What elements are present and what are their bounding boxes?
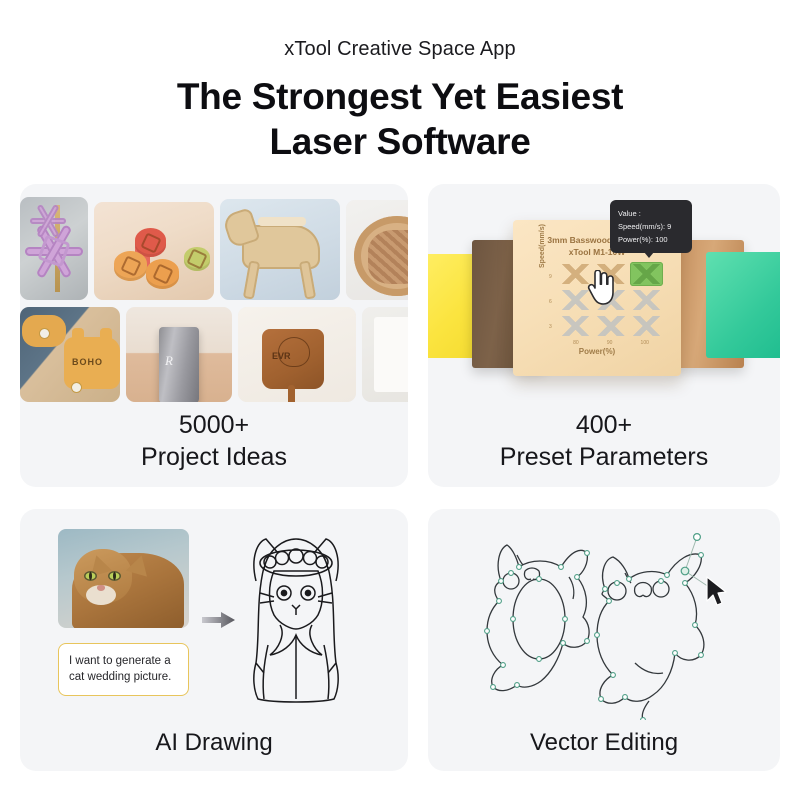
photo-tile-metal-case[interactable]: R bbox=[126, 307, 232, 402]
material-test-illustration: 3mm Basswoodplywood xTool M1-10W Speed(m… bbox=[428, 184, 780, 396]
test-cell[interactable] bbox=[630, 288, 663, 312]
y-tick-2: 3 bbox=[549, 324, 552, 330]
source-cat-photo[interactable] bbox=[58, 529, 189, 628]
photo-tile-snowflake[interactable] bbox=[20, 197, 88, 300]
test-cell[interactable] bbox=[594, 314, 627, 338]
pouch-engraved-text: EVR bbox=[272, 351, 291, 361]
card-ai-drawing[interactable]: I want to generate a cat wedding picture… bbox=[20, 509, 408, 771]
power-axis-label: Power(%) bbox=[513, 347, 681, 356]
card-caption-ai-drawing: AI Drawing bbox=[20, 729, 408, 757]
transform-arrow-icon bbox=[202, 611, 236, 634]
boho-engraved-text: BOHO bbox=[72, 357, 103, 367]
headline-line-1: The Strongest Yet Easiest bbox=[0, 74, 800, 119]
photo-tile-white-board[interactable] bbox=[362, 307, 408, 402]
card-preset-parameters[interactable]: 3mm Basswoodplywood xTool M1-10W Speed(m… bbox=[428, 184, 780, 487]
generated-cat-bride-lineart[interactable] bbox=[234, 523, 358, 710]
x-tick-2: 100 bbox=[641, 340, 649, 346]
x-tick-0: 80 bbox=[573, 340, 579, 346]
photo-tile-wood-bowl[interactable] bbox=[346, 200, 408, 300]
project-ideas-count: 5000+ bbox=[20, 410, 408, 442]
preset-parameters-count: 400+ bbox=[428, 410, 780, 442]
app-name: xTool Creative Space App bbox=[0, 38, 800, 61]
vector-editing-illustration bbox=[428, 515, 780, 720]
material-green-acrylic bbox=[706, 252, 780, 358]
y-tick-0: 9 bbox=[549, 274, 552, 280]
hand-cursor-icon bbox=[586, 270, 616, 311]
headline-line-2: Laser Software bbox=[0, 119, 800, 164]
tooltip-speed: Speed(mm/s): 9 bbox=[618, 220, 684, 233]
test-cell[interactable] bbox=[630, 314, 663, 338]
card-caption-project-ideas: 5000+ Project Ideas bbox=[20, 410, 408, 473]
promo-page: xTool Creative Space App The Strongest Y… bbox=[0, 0, 800, 800]
vector-cats-artwork[interactable] bbox=[439, 515, 769, 720]
ai-prompt-box[interactable]: I want to generate a cat wedding picture… bbox=[58, 643, 189, 696]
page-title: The Strongest Yet Easiest Laser Software bbox=[0, 74, 800, 164]
page-header: xTool Creative Space App The Strongest Y… bbox=[0, 0, 800, 164]
project-photo-mosaic: BOHO R EVR bbox=[20, 197, 408, 402]
y-tick-1: 6 bbox=[549, 299, 552, 305]
test-cell[interactable] bbox=[559, 314, 592, 338]
preset-parameters-label: Preset Parameters bbox=[428, 442, 780, 474]
card-project-ideas[interactable]: BOHO R EVR 500 bbox=[20, 184, 408, 487]
photo-tile-boho-keychain[interactable]: BOHO bbox=[20, 307, 120, 402]
test-cell-selected[interactable] bbox=[630, 262, 663, 286]
project-ideas-label: Project Ideas bbox=[20, 442, 408, 474]
speed-axis-label: Speed(mm/s) bbox=[539, 224, 546, 268]
arrow-cursor-icon bbox=[707, 577, 726, 605]
photo-tile-rocking-horse[interactable] bbox=[220, 199, 340, 300]
speed-axis-ticks: 9 6 3 bbox=[549, 264, 552, 340]
feature-card-grid: BOHO R EVR 500 bbox=[20, 184, 780, 771]
photo-tile-macarons[interactable] bbox=[94, 202, 214, 300]
x-tick-1: 90 bbox=[607, 340, 613, 346]
snowflake-ornament-icon-small bbox=[28, 201, 68, 241]
ai-drawing-illustration: I want to generate a cat wedding picture… bbox=[20, 525, 408, 715]
card-caption-preset-parameters: 400+ Preset Parameters bbox=[428, 410, 780, 473]
card-vector-editing[interactable]: Vector Editing bbox=[428, 509, 780, 771]
power-axis-ticks: 80 90 100 bbox=[559, 340, 663, 346]
parameter-tooltip: Value : Speed(mm/s): 9 Power(%): 100 bbox=[610, 200, 692, 253]
card-caption-vector-editing: Vector Editing bbox=[428, 729, 780, 757]
tooltip-title: Value : bbox=[618, 207, 684, 220]
vector-editing-label: Vector Editing bbox=[428, 729, 780, 757]
ai-drawing-label: AI Drawing bbox=[20, 729, 408, 757]
photo-tile-leather-pouch[interactable]: EVR bbox=[238, 307, 356, 402]
tooltip-power: Power(%): 100 bbox=[618, 233, 684, 246]
